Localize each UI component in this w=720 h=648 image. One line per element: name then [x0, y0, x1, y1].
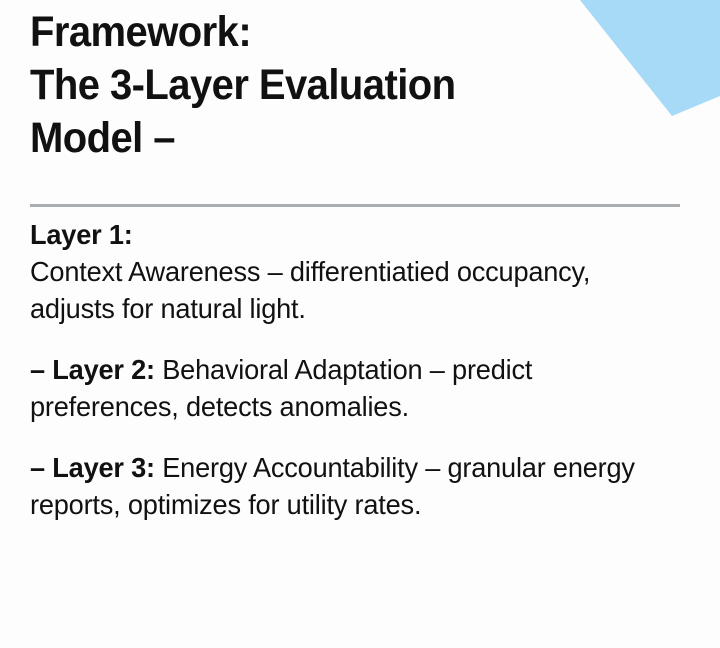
title-line-1: Framework:: [30, 6, 588, 59]
layer-1-text: Layer 1: Context Awareness – differentia…: [30, 216, 670, 327]
layer-3-text: – Layer 3: Energy Accountability – granu…: [30, 449, 670, 523]
list-item: Layer 1: Context Awareness – differentia…: [30, 216, 690, 327]
section-divider: [30, 204, 680, 207]
layer-2-label: Layer 2:: [52, 354, 155, 385]
layers-list: Layer 1: Context Awareness – differentia…: [30, 216, 690, 523]
layer-3-label: Layer 3:: [52, 452, 155, 483]
title-line-2: The 3-Layer Evaluation: [30, 59, 588, 112]
framework-slide: Framework: The 3-Layer Evaluation Model …: [0, 0, 720, 648]
page-title: Framework: The 3-Layer Evaluation Model …: [30, 6, 630, 165]
layer-2-text: – Layer 2: Behavioral Adaptation – predi…: [30, 351, 670, 425]
layer-3-dash: –: [30, 452, 52, 483]
layer-1-body: Context Awareness – differentiatied occu…: [30, 256, 590, 324]
title-line-3: Model –: [30, 112, 588, 165]
layer-1-label: Layer 1:: [30, 219, 133, 250]
layer-2-dash: –: [30, 354, 52, 385]
list-item: – Layer 2: Behavioral Adaptation – predi…: [30, 351, 690, 425]
list-item: – Layer 3: Energy Accountability – granu…: [30, 449, 690, 523]
